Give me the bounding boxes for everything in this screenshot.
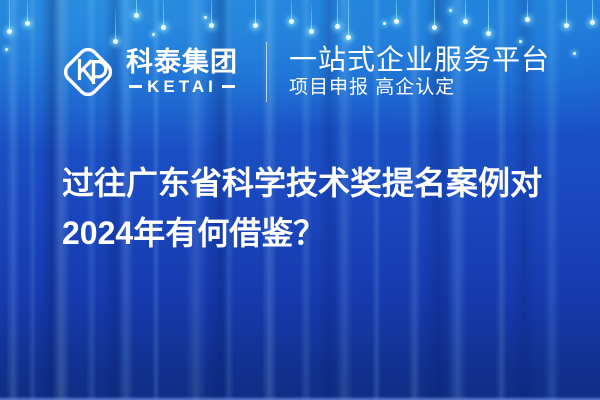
tagline-secondary: 项目申报 高企认定 <box>289 78 550 99</box>
ketai-diamond-monogram-icon <box>62 46 114 98</box>
dash-right-icon <box>222 85 235 88</box>
promo-banner: 科泰集团 KETAI 一站式企业服务平台 项目申报 高企认定 过往广东省科学技术… <box>0 0 600 400</box>
brand-name-en-row: KETAI <box>126 78 238 95</box>
bottom-hairline <box>0 396 600 400</box>
header-divider <box>266 42 267 102</box>
tagline-primary: 一站式企业服务平台 <box>289 45 550 74</box>
headline-line-2: 2024年有何借鉴？ <box>62 208 562 258</box>
brand-logo-lockup[interactable]: 科泰集团 KETAI <box>62 46 238 98</box>
brand-wordmark: 科泰集团 KETAI <box>126 49 238 95</box>
brand-name-en: KETAI <box>147 78 217 95</box>
banner-header: 科泰集团 KETAI 一站式企业服务平台 项目申报 高企认定 <box>0 36 600 108</box>
dash-left-icon <box>129 85 142 88</box>
brand-name-cn: 科泰集团 <box>126 49 238 76</box>
headline: 过往广东省科学技术奖提名案例对 2024年有何借鉴？ <box>62 158 562 258</box>
headline-line-1: 过往广东省科学技术奖提名案例对 <box>62 158 562 208</box>
tagline-block: 一站式企业服务平台 项目申报 高企认定 <box>289 45 550 98</box>
